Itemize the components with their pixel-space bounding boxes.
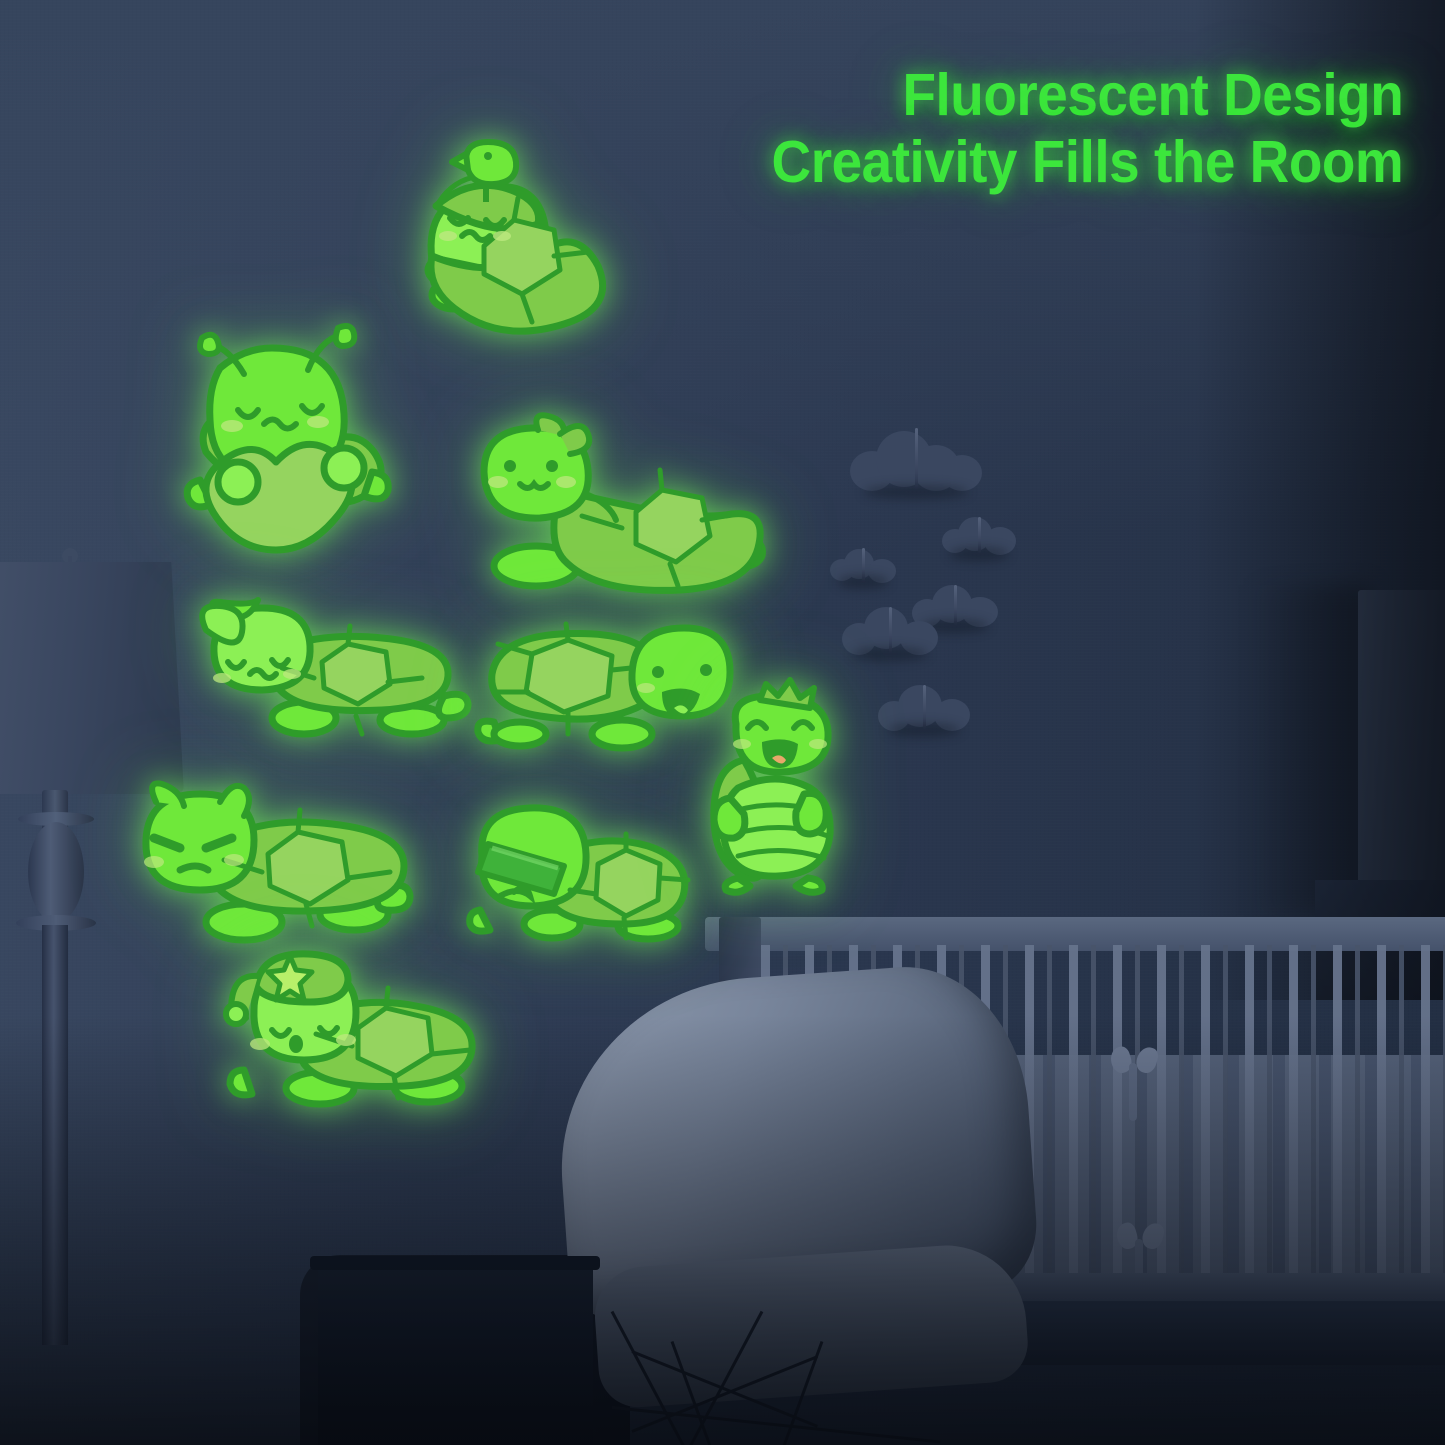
cloud-shape — [942, 515, 1016, 555]
lamp-stem-body — [28, 822, 84, 922]
cloud-shape — [830, 547, 896, 583]
lamp-shade — [0, 562, 184, 794]
cloud-shape — [850, 425, 982, 493]
cloud-mobile — [830, 415, 1020, 740]
sticker-turtle-nightcap[interactable] — [228, 952, 476, 1110]
sticker-turtle-crown[interactable] — [708, 694, 858, 890]
cloud-shape — [878, 683, 970, 731]
floor-shadow — [0, 1015, 1445, 1445]
headline-line-2: Creativity Fills the Room — [771, 129, 1403, 196]
sticker-turtle-leaf-sleep[interactable] — [196, 600, 458, 740]
sticker-turtle-devil[interactable] — [132, 784, 404, 952]
headline: Fluorescent Design Creativity Fills the … — [771, 62, 1403, 195]
product-lifestyle-scene: Fluorescent Design Creativity Fills the … — [0, 0, 1445, 1445]
sticker-turtle-laughing[interactable] — [476, 622, 726, 754]
sticker-turtle-bow[interactable] — [476, 424, 766, 600]
sticker-turtle-alien-heart[interactable] — [176, 332, 406, 562]
cloud-shape — [842, 605, 938, 655]
sticker-turtle-hat-bird[interactable] — [336, 140, 586, 345]
sticker-turtle-sunglasses[interactable] — [466, 802, 694, 950]
headline-line-1: Fluorescent Design — [771, 62, 1403, 129]
